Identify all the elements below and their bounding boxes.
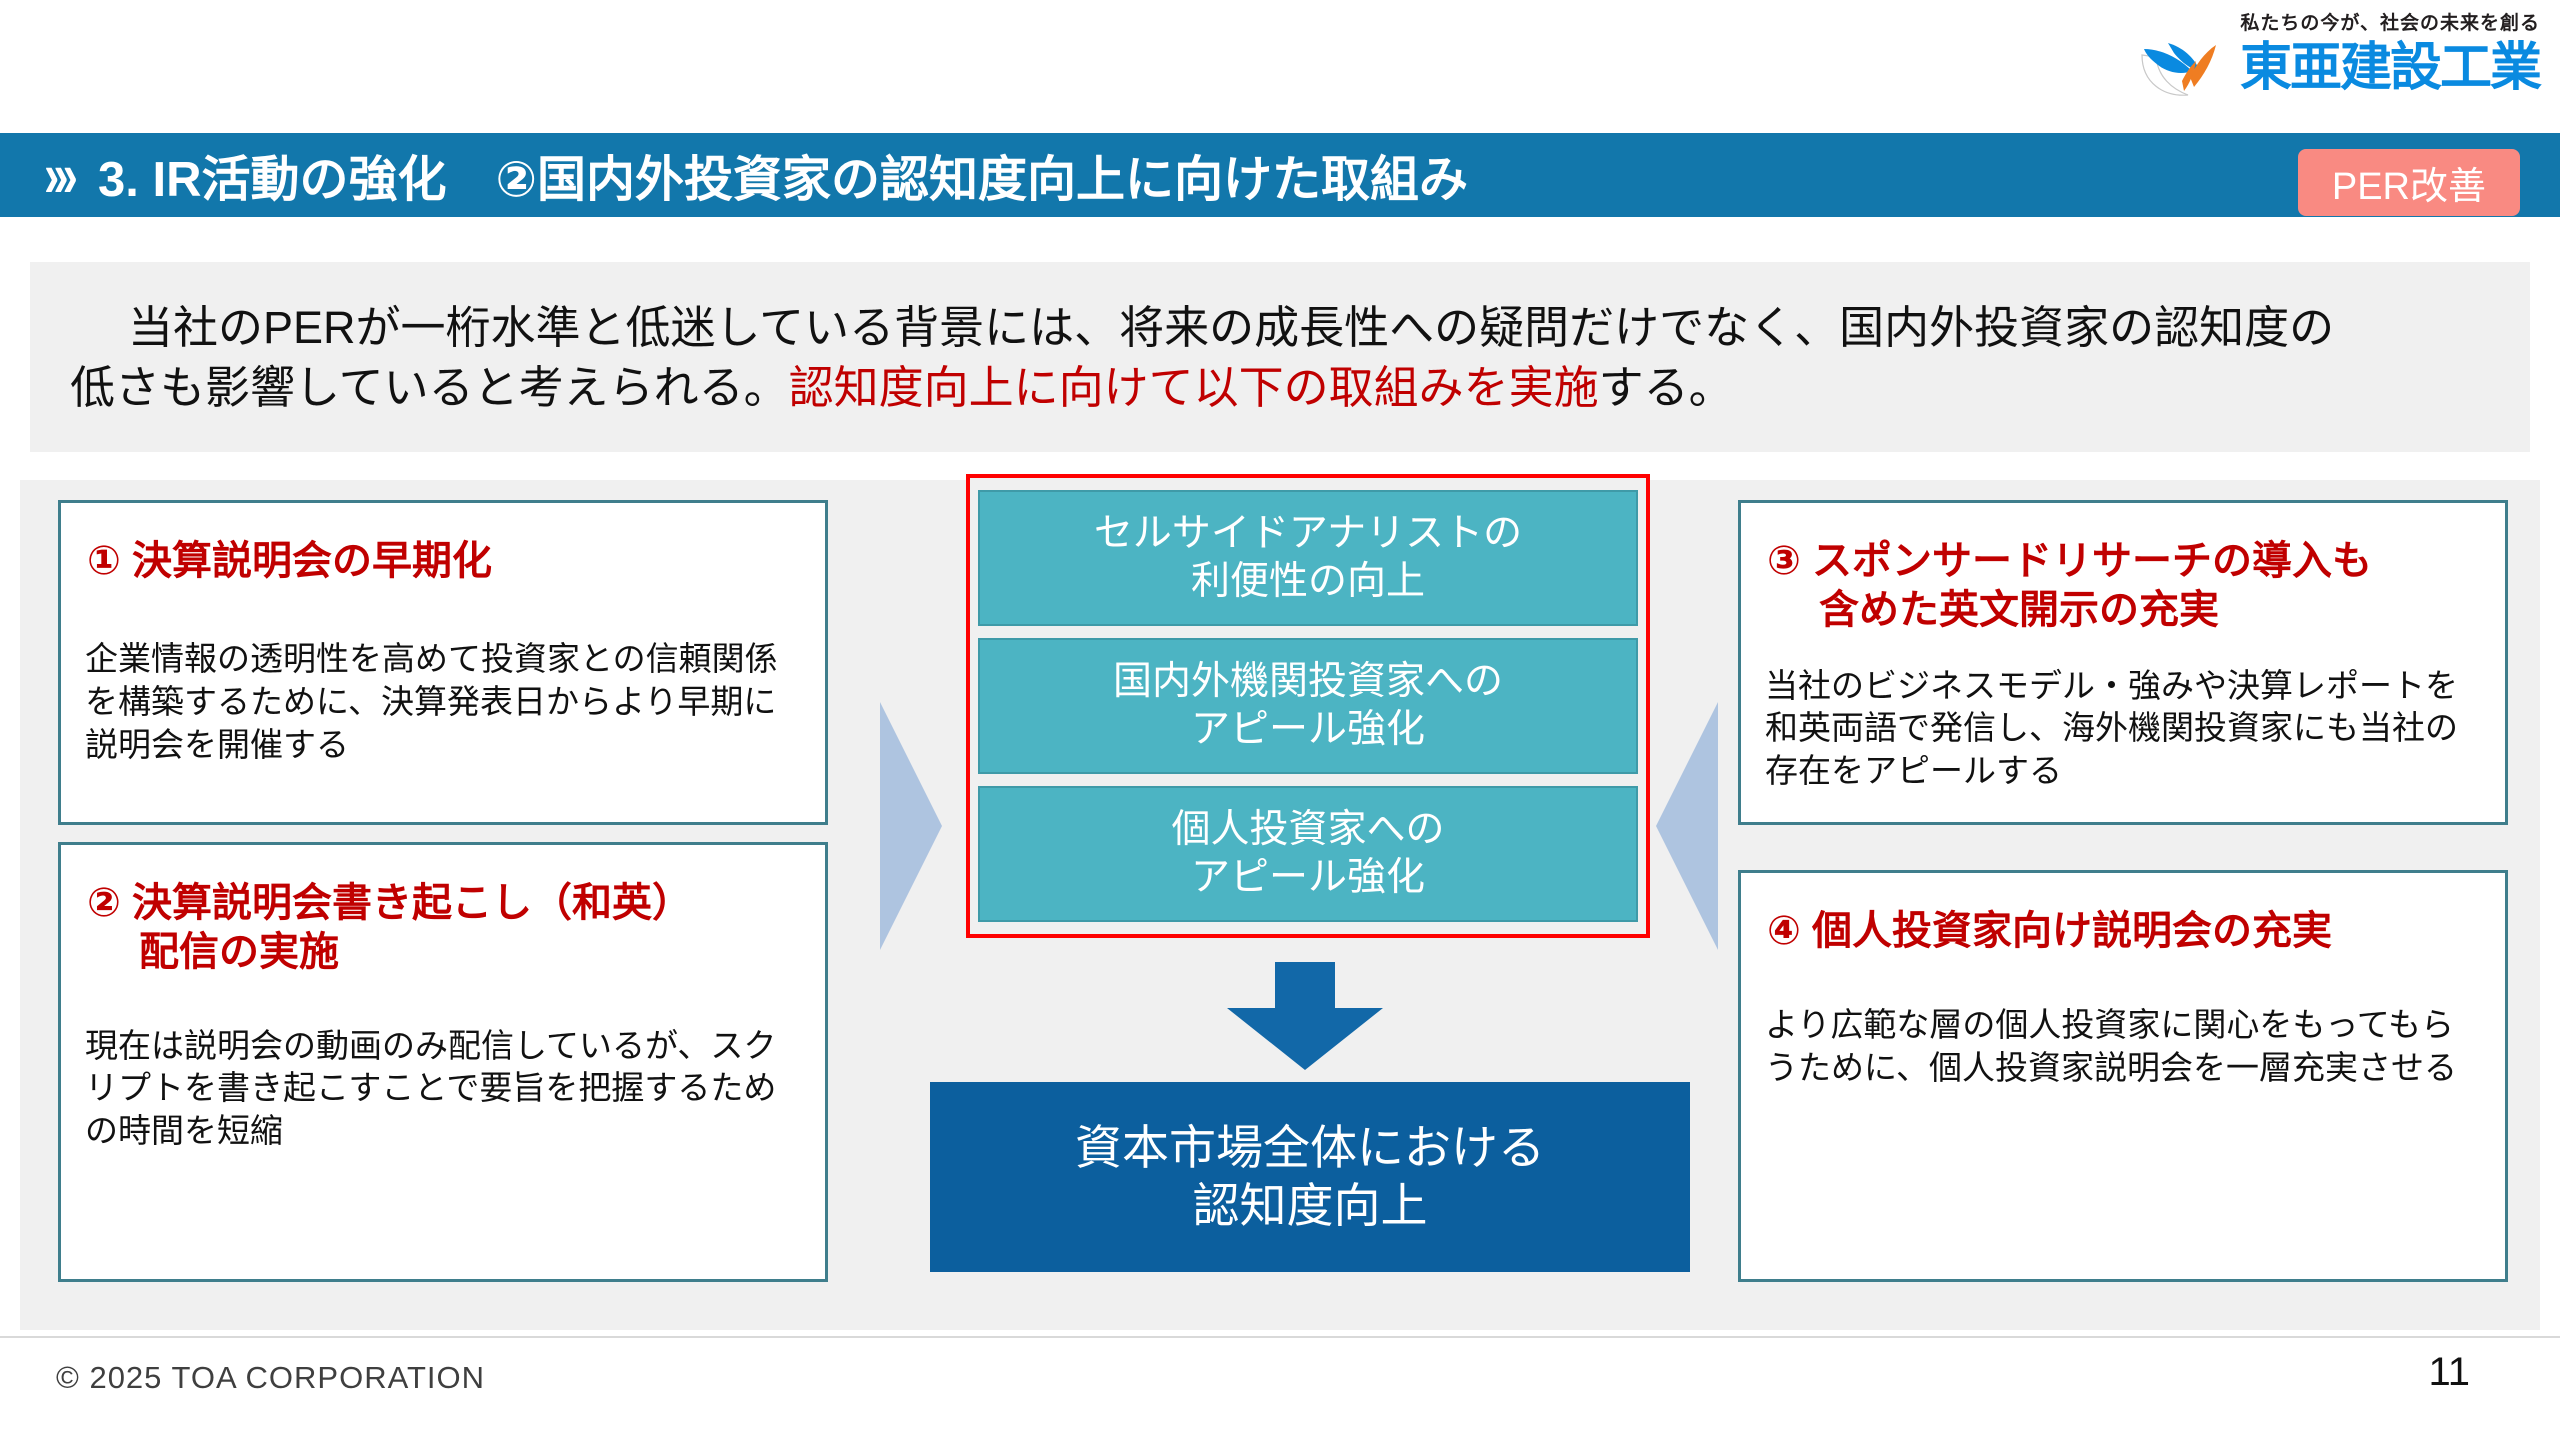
logo-tagline: 私たちの今が、社会の未来を創る (2240, 8, 2540, 35)
card-4-heading: ④ 個人投資家向け説明会の充実 (1741, 873, 2505, 956)
triangle-right-icon (880, 702, 942, 950)
card-4: ④ 個人投資家向け説明会の充実 より広範な層の個人投資家に関心をもってもらうため… (1738, 870, 2508, 1282)
card-3-title-line2: 含めた英文開示の充実 (1767, 586, 2483, 635)
company-name: 東亜建設工業 (2240, 42, 2540, 94)
center-box-1: セルサイドアナリストの利便性の向上 (978, 490, 1638, 626)
footer-divider (0, 1336, 2560, 1338)
intro-text: 当社のPERが一桁水準と低迷している背景には、将来の成長性への疑問だけでなく、国… (70, 298, 2490, 418)
card-3-heading: ③ スポンサードリサーチの導入も 含めた英文開示の充実 (1741, 503, 2505, 635)
bird-mark-icon (2138, 37, 2234, 99)
page-number: 11 (2428, 1350, 2470, 1395)
copyright-text: © 2025 TOA CORPORATION (56, 1360, 485, 1396)
intro-line1: 当社のPERが一桁水準と低迷している背景には、将来の成長性への疑問だけでなく、国… (128, 302, 2334, 353)
card-2-title-line2: 配信の実施 (87, 928, 803, 977)
card-3-body: 当社のビジネスモデル・強みや決算レポートを和英両語で発信し、海外機関投資家にも当… (1741, 635, 2505, 794)
center-box-3: 個人投資家へのアピール強化 (978, 786, 1638, 922)
card-2-title: 決算説明会書き起こし（和英） (132, 881, 692, 925)
card-2-body: 現在は説明会の動画のみ配信しているが、スクリプトを書き起こすことで要旨を把握する… (61, 977, 825, 1154)
intro-line2-b: する。 (1599, 362, 1734, 413)
triple-chevron-icon: ››› (44, 152, 72, 198)
diagram-panel: ① 決算説明会の早期化 企業情報の透明性を高めて投資家との信頼関係を構築するため… (20, 480, 2540, 1330)
card-1: ① 決算説明会の早期化 企業情報の透明性を高めて投資家との信頼関係を構築するため… (58, 500, 828, 825)
logo-row: 東亜建設工業 (2138, 37, 2540, 99)
card-2-number: ② (87, 881, 121, 925)
intro-panel: 当社のPERが一桁水準と低迷している背景には、将来の成長性への疑問だけでなく、国… (30, 262, 2530, 452)
page-title: 3. IR活動の強化 ②国内外投資家の認知度向上に向けた取組み (98, 140, 1468, 211)
intro-line2-a: 低さも影響していると考えられる。 (70, 362, 789, 413)
company-logo: 私たちの今が、社会の未来を創る 東亜建設工業 (2138, 8, 2540, 99)
card-3-number: ③ (1767, 539, 1801, 583)
intro-highlight: 認知度向上に向けて以下の取組みを実施 (789, 362, 1599, 413)
card-1-number: ① (87, 539, 121, 583)
down-arrow-icon (1215, 962, 1395, 1072)
card-1-title: 決算説明会の早期化 (132, 539, 492, 583)
result-box: 資本市場全体における認知度向上 (930, 1082, 1690, 1272)
card-4-body: より広範な層の個人投資家に関心をもってもらうために、個人投資家説明会を一層充実さ… (1741, 956, 2505, 1090)
card-4-number: ④ (1767, 909, 1801, 953)
card-2-heading: ② 決算説明会書き起こし（和英） 配信の実施 (61, 845, 825, 977)
status-badge: PER改善 (2298, 149, 2520, 216)
center-box-2: 国内外機関投資家へのアピール強化 (978, 638, 1638, 774)
title-bar: ››› 3. IR活動の強化 ②国内外投資家の認知度向上に向けた取組み PER改… (0, 133, 2560, 217)
card-1-body: 企業情報の透明性を高めて投資家との信頼関係を構築するために、決算発表日からより早… (61, 586, 825, 767)
card-2: ② 決算説明会書き起こし（和英） 配信の実施 現在は説明会の動画のみ配信している… (58, 842, 828, 1282)
slide-root: 私たちの今が、社会の未来を創る 東亜建設工業 ››› 3. IR活動の強化 ②国… (0, 0, 2560, 1440)
card-3: ③ スポンサードリサーチの導入も 含めた英文開示の充実 当社のビジネスモデル・強… (1738, 500, 2508, 825)
card-3-title: スポンサードリサーチの導入も (1812, 539, 2372, 583)
card-1-heading: ① 決算説明会の早期化 (61, 503, 825, 586)
card-4-title: 個人投資家向け説明会の充実 (1812, 909, 2332, 953)
triangle-left-icon (1656, 702, 1718, 950)
